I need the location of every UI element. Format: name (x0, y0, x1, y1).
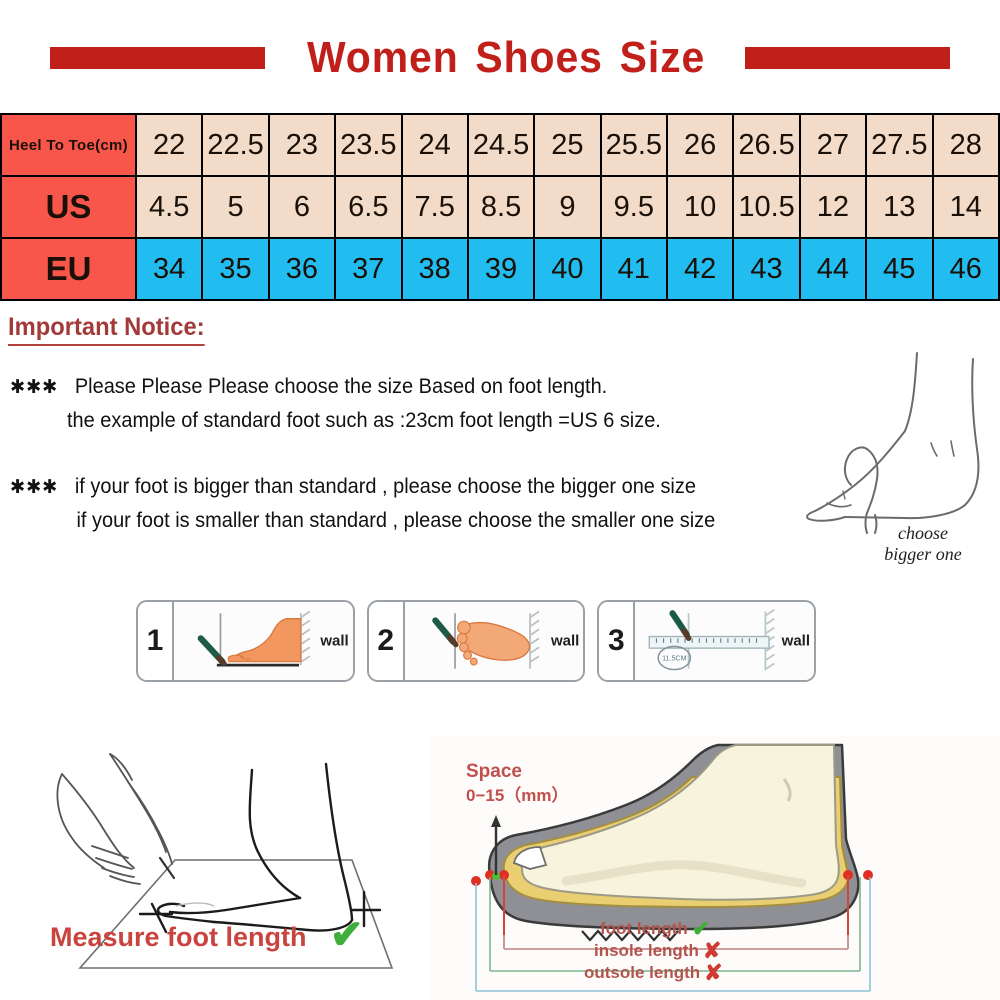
legend-label-foot-length: foot length (600, 918, 688, 940)
step-3-wall-label: wall (782, 633, 810, 650)
cell-eu-3: 37 (335, 238, 401, 300)
space-annotation-line1: Space (466, 760, 569, 784)
cell-us-6: 9 (534, 176, 600, 238)
legend-row-insole-length: insole length ✘ (594, 940, 723, 962)
cell-eu-9: 43 (733, 238, 799, 300)
legend-cross-icon-insole-length: ✘ (703, 940, 721, 962)
notice-block-2: ✱✱✱ if your foot is bigger than standard… (10, 470, 715, 537)
cell-eu-12: 46 (933, 238, 1000, 300)
page-title-row: WomenShoesSize (0, 26, 1000, 90)
measure-foot-illustration (0, 706, 430, 1000)
step-2-wall-label: wall (551, 633, 579, 650)
step-3-ruler-badge: 11.5CM (662, 655, 686, 663)
cell-us-8: 10 (667, 176, 733, 238)
cell-eu-4: 38 (402, 238, 468, 300)
cell-cm-2: 23 (269, 114, 335, 176)
measure-foot-caption: Measure foot length (50, 922, 307, 953)
cell-us-3: 6.5 (335, 176, 401, 238)
page-title-word-1: Women (307, 33, 459, 82)
step-1-illustration: wall (174, 602, 353, 680)
cell-eu-6: 40 (534, 238, 600, 300)
cell-cm-4: 24 (402, 114, 468, 176)
step-number-1: 1 (138, 602, 174, 680)
cell-cm-6: 25 (534, 114, 600, 176)
table-row-eu: EU 34 35 36 37 38 39 40 41 42 43 44 45 4… (1, 238, 999, 300)
step-1-wall-label: wall (320, 633, 348, 650)
step-number-2: 2 (369, 602, 405, 680)
notice-bullet-stars-1: ✱✱✱ (10, 377, 58, 398)
notice-block2-line1: if your foot is bigger than standard , p… (75, 475, 696, 498)
length-legend: foot length ✔ insole length ✘ outsole le… (600, 918, 723, 984)
legend-check-icon-foot-length: ✔ (692, 918, 710, 940)
page-title-word-2: Shoes (475, 33, 602, 82)
notice-block2-line2: if your foot is smaller than standard , … (77, 509, 716, 532)
legend-cross-icon-outsole-length: ✘ (704, 962, 722, 984)
notice-bullet-stars-2: ✱✱✱ (10, 477, 58, 498)
cell-us-12: 14 (933, 176, 1000, 238)
space-annotation-line2: 0−15（mm） (466, 784, 569, 808)
cell-eu-2: 36 (269, 238, 335, 300)
step-2-illustration: wall (405, 602, 584, 680)
cell-us-1: 5 (202, 176, 268, 238)
legend-row-outsole-length: outsole length ✘ (584, 962, 723, 984)
table-row-heel-to-toe: Heel To Toe(cm) 22 22.5 23 23.5 24 24.5 … (1, 114, 999, 176)
cell-cm-8: 26 (667, 114, 733, 176)
page-title: WomenShoesSize (299, 33, 714, 83)
cell-cm-11: 27.5 (866, 114, 932, 176)
measure-check-icon: ✔ (330, 912, 364, 958)
step-panel-3: 3 (597, 600, 816, 682)
foot-sketch-caption-line2: bigger one (858, 544, 988, 565)
cell-eu-0: 34 (136, 238, 202, 300)
cell-us-9: 10.5 (733, 176, 799, 238)
cell-cm-3: 23.5 (335, 114, 401, 176)
cell-eu-5: 39 (468, 238, 534, 300)
table-row-us: US 4.5 5 6 6.5 7.5 8.5 9 9.5 10 10.5 12 … (1, 176, 999, 238)
step-panel-2: 2 (367, 600, 586, 682)
cell-eu-11: 45 (866, 238, 932, 300)
cell-us-4: 7.5 (402, 176, 468, 238)
cell-cm-10: 27 (800, 114, 866, 176)
notice-block-1: ✱✱✱ Please Please Please choose the size… (10, 370, 661, 437)
notice-block1-line1: Please Please Please choose the size Bas… (75, 375, 607, 398)
step-number-3: 3 (599, 602, 635, 680)
cell-cm-9: 26.5 (733, 114, 799, 176)
page-title-word-3: Size (620, 33, 706, 82)
size-table-wrapper: Heel To Toe(cm) 22 22.5 23 23.5 24 24.5 … (0, 113, 1000, 301)
step-panel-1: 1 (136, 600, 355, 682)
row-header-heel-to-toe: Heel To Toe(cm) (1, 114, 136, 176)
foot-sketch-caption: choose bigger one (858, 523, 988, 565)
row-header-eu: EU (1, 238, 136, 300)
title-rule-right (745, 47, 950, 69)
cell-us-11: 13 (866, 176, 932, 238)
cell-cm-12: 28 (933, 114, 1000, 176)
cell-cm-0: 22 (136, 114, 202, 176)
cell-eu-8: 42 (667, 238, 733, 300)
measuring-steps: 1 (136, 600, 816, 682)
space-annotation: Space 0−15（mm） (466, 760, 569, 808)
cell-eu-7: 41 (601, 238, 667, 300)
cell-cm-1: 22.5 (202, 114, 268, 176)
legend-label-outsole-length: outsole length (584, 962, 700, 984)
cell-us-7: 9.5 (601, 176, 667, 238)
cell-eu-1: 35 (202, 238, 268, 300)
step-3-illustration: 11.5CM wall (635, 602, 814, 680)
legend-row-foot-length: foot length ✔ (600, 918, 723, 940)
title-rule-left (50, 47, 265, 69)
cell-us-5: 8.5 (468, 176, 534, 238)
cell-us-2: 6 (269, 176, 335, 238)
foot-sketch-caption-line1: choose (858, 523, 988, 544)
notice-heading: Important Notice: (8, 313, 205, 346)
notice-block1-line2: the example of standard foot such as :23… (67, 409, 661, 432)
cell-us-10: 12 (800, 176, 866, 238)
cell-cm-5: 24.5 (468, 114, 534, 176)
row-header-us: US (1, 176, 136, 238)
size-conversion-table: Heel To Toe(cm) 22 22.5 23 23.5 24 24.5 … (0, 113, 1000, 301)
cell-us-0: 4.5 (136, 176, 202, 238)
legend-label-insole-length: insole length (594, 940, 699, 962)
cell-cm-7: 25.5 (601, 114, 667, 176)
cell-eu-10: 44 (800, 238, 866, 300)
